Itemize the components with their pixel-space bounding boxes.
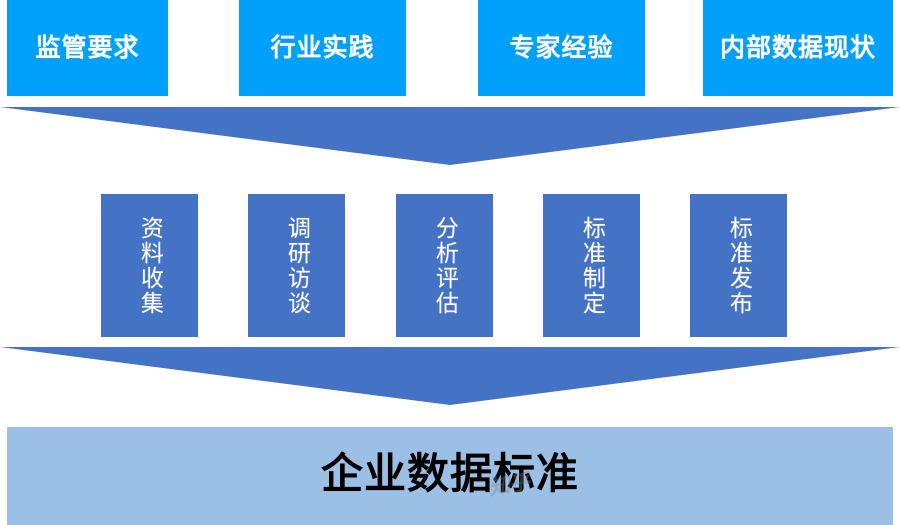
process-step-box-research-interview[interactable]: 调研访谈 [248, 194, 345, 337]
down-arrow-shape [0, 107, 900, 167]
input-source-box-regulatory[interactable]: 监管要求 [7, 0, 168, 96]
down-arrow-shape [0, 347, 900, 407]
process-step-box-data-collection[interactable]: 资料收集 [101, 194, 198, 337]
input-source-box-internal-data-status[interactable]: 内部数据现状 [703, 0, 893, 96]
process-step-label: 标准发布 [726, 216, 752, 316]
outcome-banner[interactable]: 企业数据标准 [7, 427, 893, 525]
process-steps-row: 资料收集 调研访谈 分析评估 标准制定 标准发布 [0, 194, 900, 338]
process-step-label: 资料收集 [137, 216, 163, 316]
input-source-label: 行业实践 [270, 36, 374, 61]
process-step-label: 调研访谈 [284, 216, 310, 316]
input-source-label: 内部数据现状 [720, 36, 876, 61]
input-source-label: 专家经验 [509, 36, 613, 61]
process-step-box-standard-release[interactable]: 标准发布 [690, 194, 787, 337]
process-step-label: 标准制定 [579, 216, 605, 316]
down-arrow-icon [0, 107, 900, 167]
process-step-label: 分析评估 [432, 216, 458, 316]
input-source-box-industry-practice[interactable]: 行业实践 [239, 0, 406, 96]
input-source-box-expert-experience[interactable]: 专家经验 [478, 0, 645, 96]
outcome-label: 企业数据标准 [321, 453, 579, 495]
process-step-box-analysis-evaluation[interactable]: 分析评估 [396, 194, 493, 337]
process-step-box-standard-formulation[interactable]: 标准制定 [543, 194, 640, 337]
input-sources-row: 监管要求 行业实践 专家经验 内部数据现状 [0, 0, 900, 97]
down-arrow-icon [0, 347, 900, 407]
process-flow-diagram: 监管要求 行业实践 专家经验 内部数据现状 资料收集 调研访谈 分析评估 标准制… [0, 0, 900, 525]
input-source-label: 监管要求 [35, 36, 139, 61]
